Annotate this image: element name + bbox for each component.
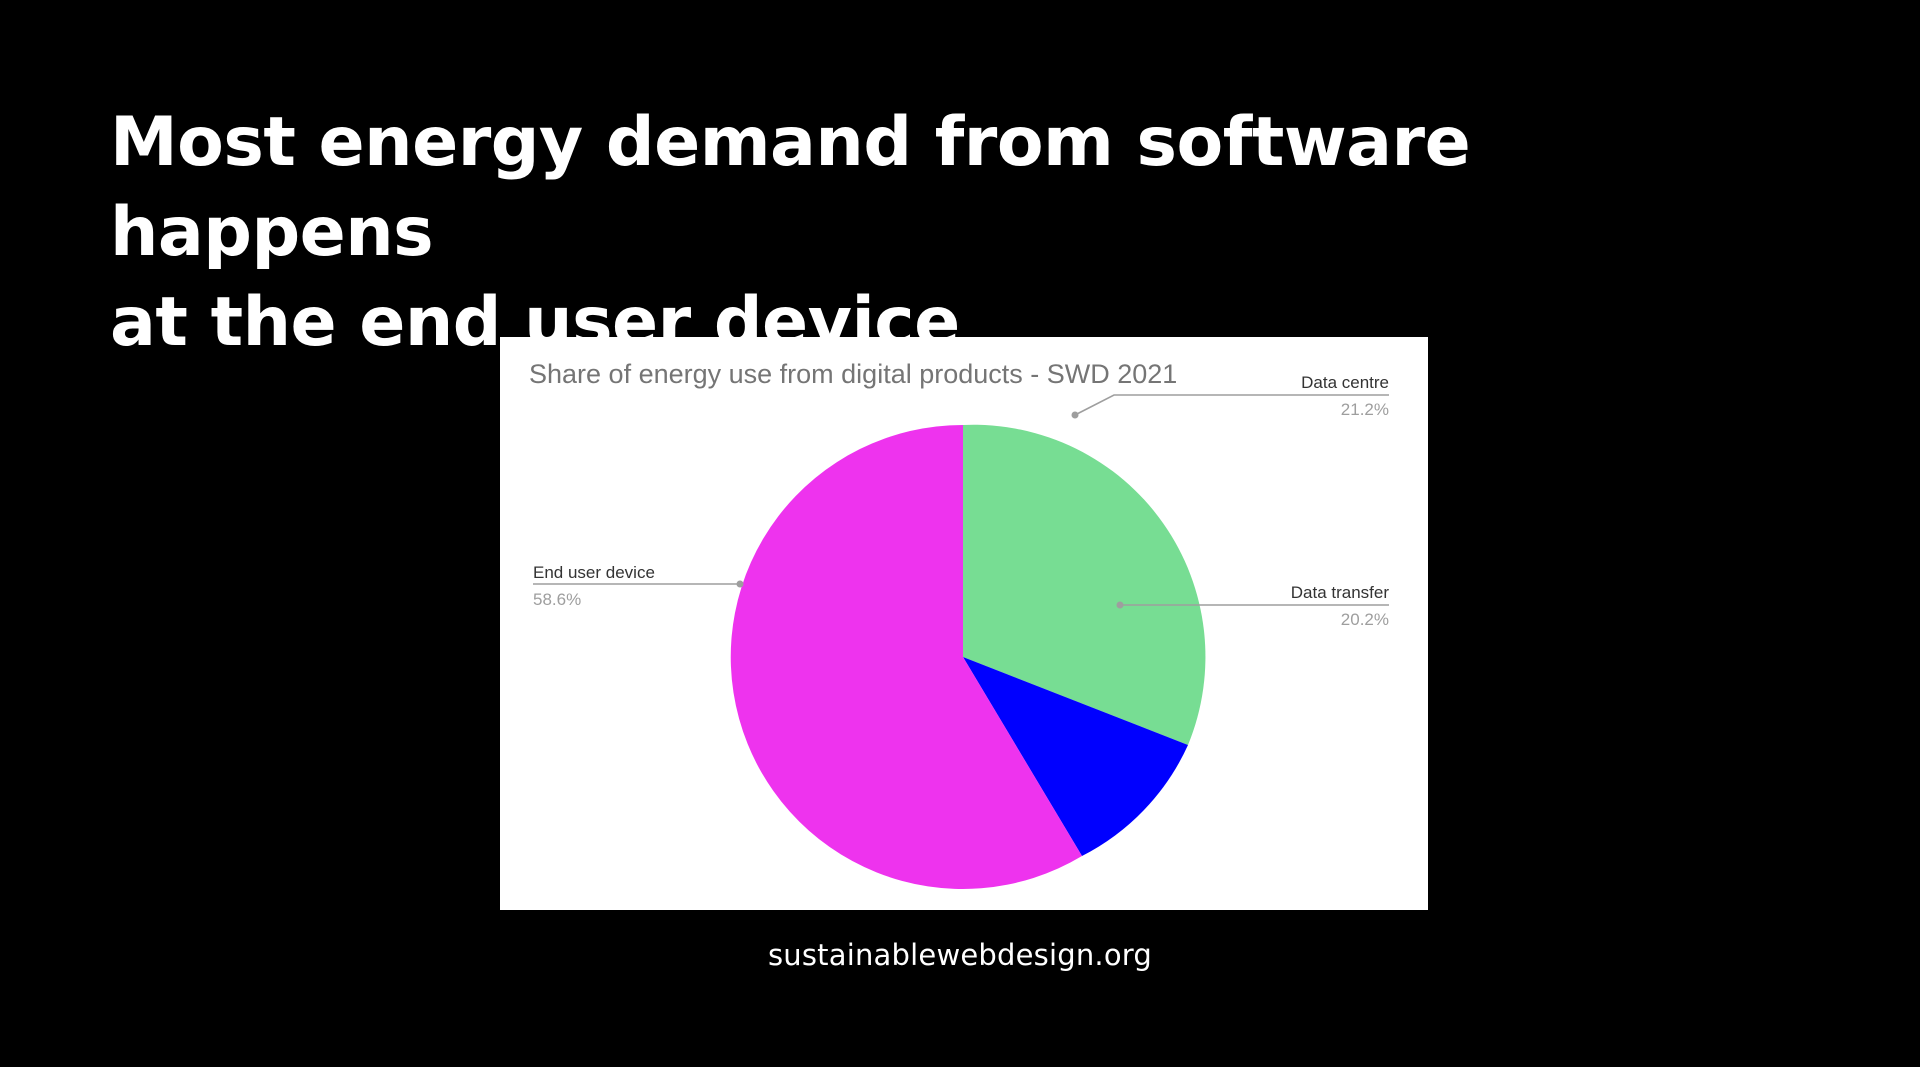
pie-chart: Data centre 21.2% Data transfer 20.2% En… [500,337,1428,910]
pie-label-value-data-transfer: 20.2% [1341,610,1389,629]
pie-label-value-data-centre: 21.2% [1341,400,1389,419]
pie-label-name-data-transfer: Data transfer [1291,583,1390,602]
pie-slices [731,425,1206,889]
chart-panel: Share of energy use from digital product… [500,337,1428,910]
pie-label-name-end-user-device: End user device [533,563,655,582]
page-title: Most energy demand from software happens… [110,98,1810,368]
footer-url[interactable]: sustainablewebdesign.org [0,938,1920,972]
slide-root: Most energy demand from software happens… [0,0,1920,1067]
pie-label-value-end-user-device: 58.6% [533,590,581,609]
pie-label-name-data-centre: Data centre [1301,373,1389,392]
